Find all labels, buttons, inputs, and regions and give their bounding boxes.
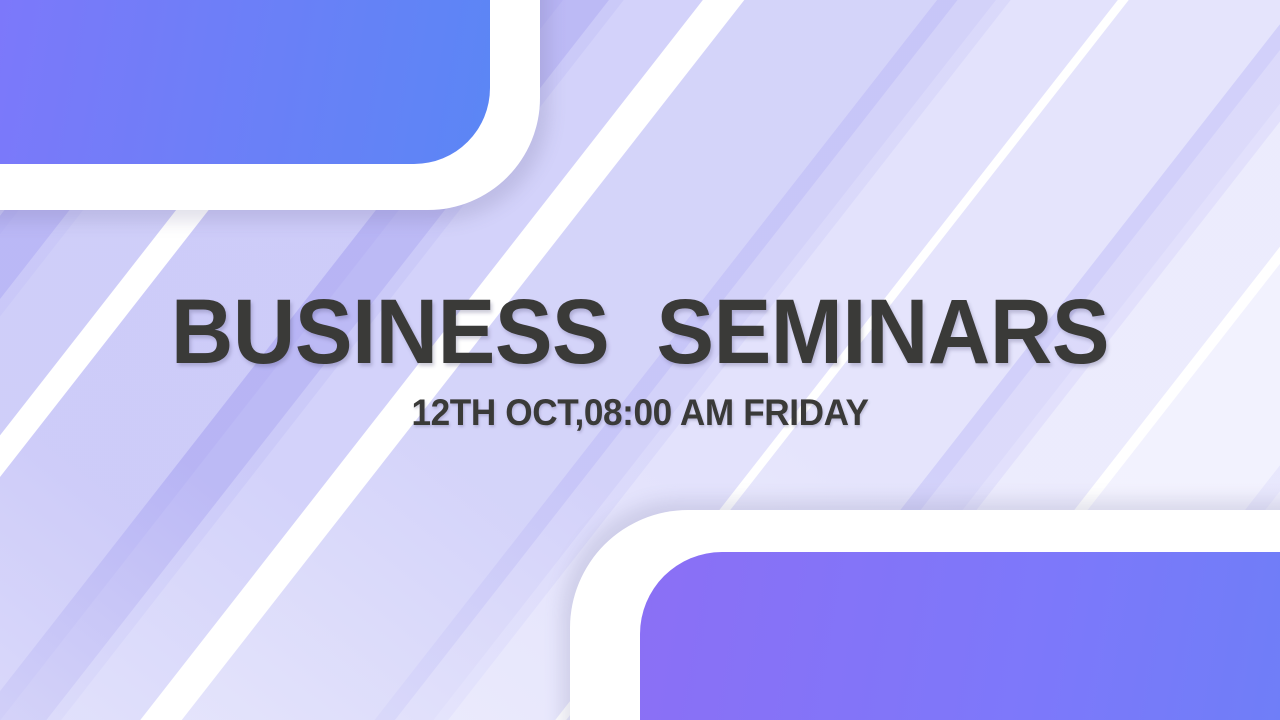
bottom-right-white-ring	[570, 510, 1280, 720]
bottom-right-corner-decoration	[570, 510, 1280, 720]
top-left-white-ring	[0, 0, 540, 210]
top-left-corner-decoration	[0, 0, 540, 210]
top-left-gradient-panel	[0, 0, 490, 164]
event-datetime: 12TH OCT,08:00 AM FRIDAY	[32, 394, 1248, 431]
bottom-right-gradient-panel	[640, 552, 1280, 720]
event-title: BUSINESS SEMINARS	[38, 288, 1241, 376]
event-banner: BUSINESS SEMINARS 12TH OCT,08:00 AM FRID…	[0, 0, 1280, 720]
banner-text-block: BUSINESS SEMINARS 12TH OCT,08:00 AM FRID…	[0, 288, 1280, 431]
